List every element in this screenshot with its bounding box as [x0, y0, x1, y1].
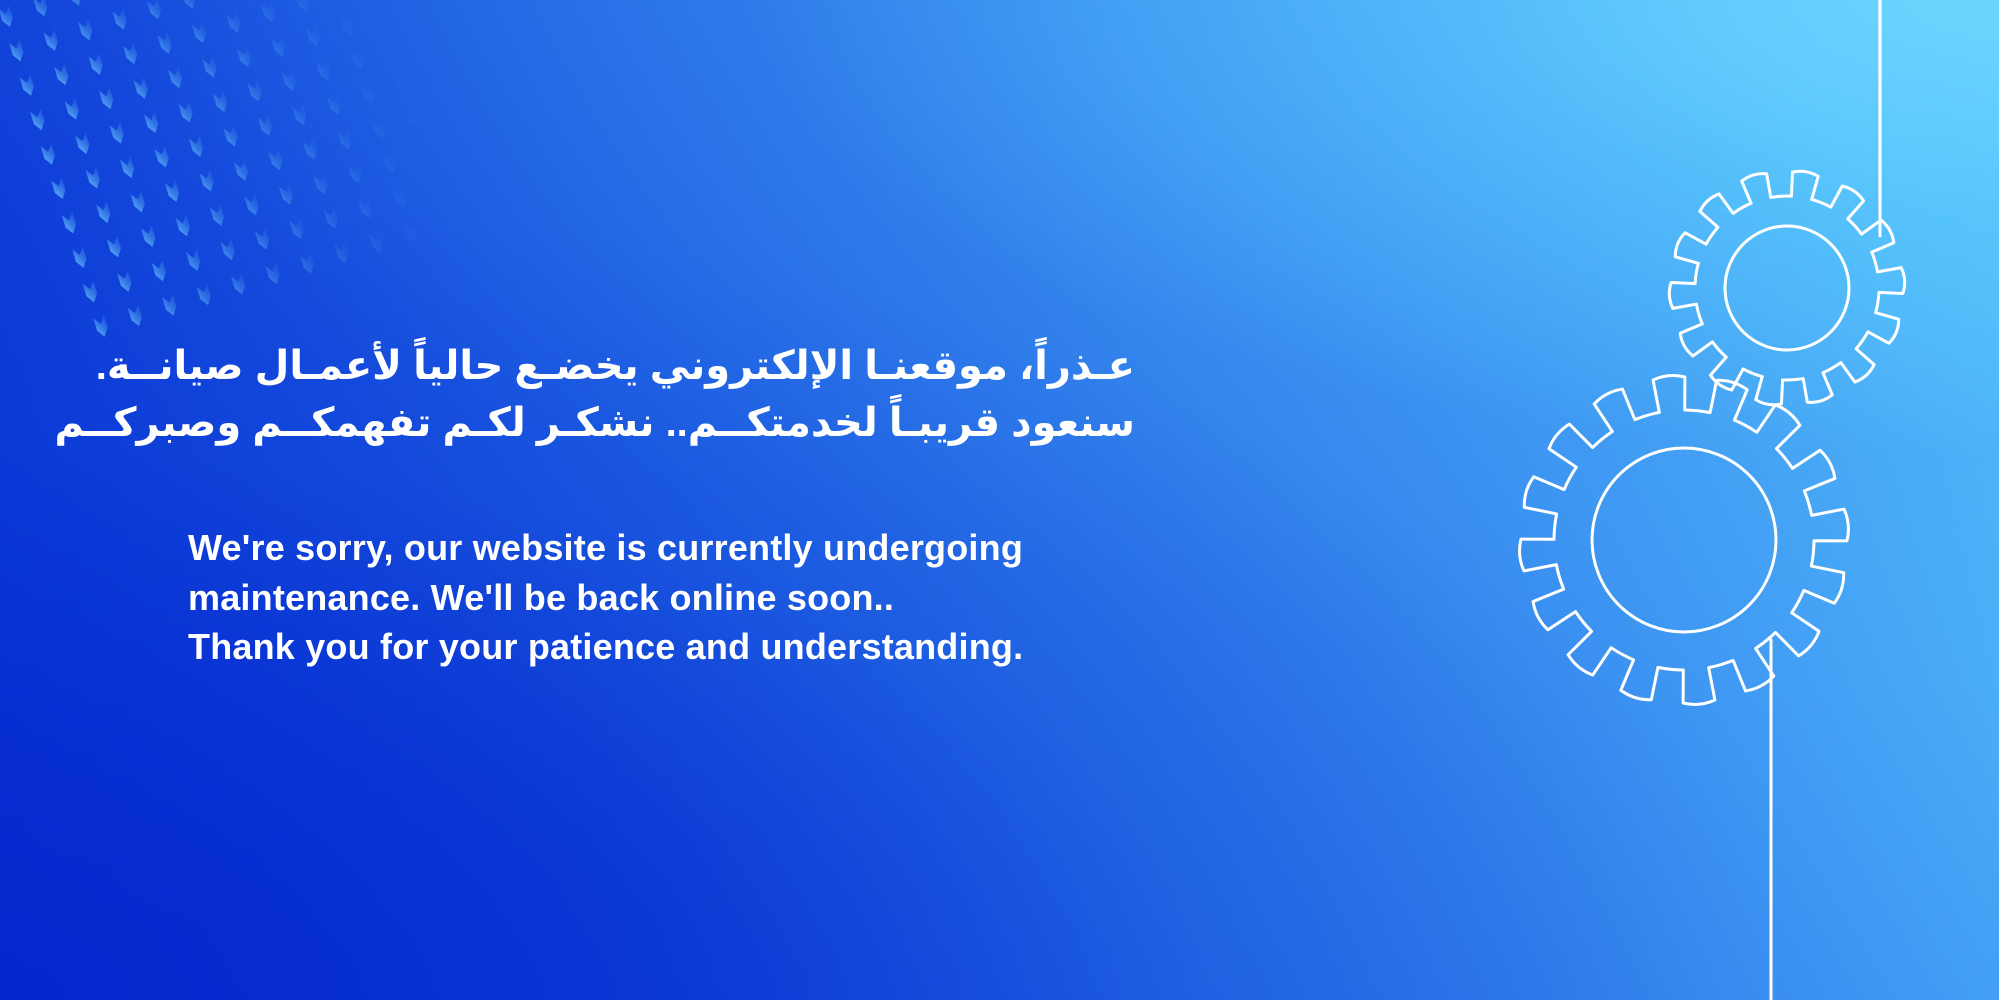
message-content: عـذراً، موقعنـا الإلكتروني يخضـع حالياً … — [0, 0, 1200, 1000]
maintenance-page: عـذراً، موقعنـا الإلكتروني يخضـع حالياً … — [0, 0, 1999, 1000]
english-line-1: We're sorry, our website is currently un… — [188, 523, 1168, 573]
english-line-3: Thank you for your patience and understa… — [188, 622, 1168, 672]
english-message: We're sorry, our website is currently un… — [188, 523, 1168, 672]
english-line-2: maintenance. We'll be back online soon.. — [188, 573, 1168, 623]
arabic-line-1: عـذراً، موقعنـا الإلكتروني يخضـع حالياً … — [150, 338, 1135, 395]
arabic-line-2: سنعود قريبـاً لخدمتكــم.. نشكـر لكـم تفه… — [150, 395, 1135, 452]
arabic-message: عـذراً، موقعنـا الإلكتروني يخضـع حالياً … — [150, 338, 1135, 452]
